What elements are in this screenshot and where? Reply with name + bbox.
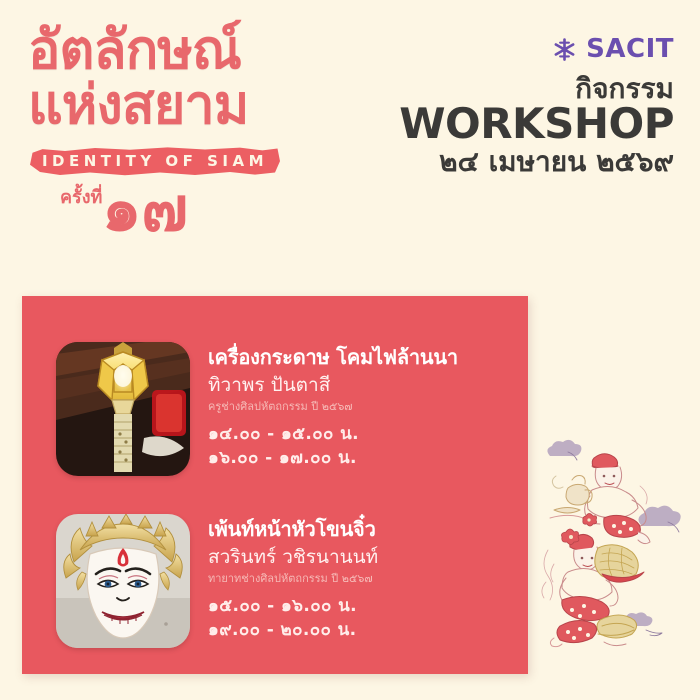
workshop-time-slot: ๑๖.๐๐ - ๑๗.๐๐ น. — [208, 446, 458, 470]
workshop-artist: สวรินทร์ วชิรนานนท์ — [208, 546, 378, 569]
workshop-times: ๑๔.๐๐ - ๑๕.๐๐ น. ๑๖.๐๐ - ๑๗.๐๐ น. — [208, 422, 458, 470]
workshop-title: เพ้นท์หน้าหัวโขนจิ๋ว — [208, 518, 378, 541]
sacit-asterisk-icon — [552, 37, 577, 62]
edition-label: ครั้งที่ — [60, 182, 102, 211]
workshop-title: เครื่องกระดาษ โคมไฟล้านนา — [208, 346, 458, 369]
workshop-time-slot: ๑๙.๐๐ - ๒๐.๐๐ น. — [208, 618, 378, 642]
sacit-logo-lockup: SACIT — [344, 34, 674, 64]
khon-mask-thumbnail — [56, 514, 190, 648]
thai-artisans-illustration — [532, 430, 692, 660]
festival-title-thai-line2: แห่งสยาม — [0, 77, 310, 132]
workshop-credential: ทายาทช่างศิลปหัตถกรรม ปี ๒๕๖๗ — [208, 572, 378, 585]
sacit-brand-name: SACIT — [586, 34, 674, 64]
workshop-info: เครื่องกระดาษ โคมไฟล้านนา ทิวาพร ปันตาสี… — [208, 342, 458, 476]
workshop-time-slot: ๑๕.๐๐ - ๑๖.๐๐ น. — [208, 594, 378, 618]
festival-title-thai-line1: อัตลักษณ์ — [0, 22, 310, 77]
workshop-item: เพ้นท์หน้าหัวโขนจิ๋ว สวรินทร์ วชิรนานนท์… — [56, 514, 378, 648]
workshop-info: เพ้นท์หน้าหัวโขนจิ๋ว สวรินทร์ วชิรนานนท์… — [208, 514, 378, 648]
edition-number: ๑๗ — [102, 178, 188, 240]
workshop-credential: ครูช่างศิลปหัตถกรรม ปี ๒๕๖๗ — [208, 400, 458, 413]
header-right-block: SACIT กิจกรรม WORKSHOP ๒๔ เมษายน ๒๕๖๙ — [344, 34, 674, 178]
workshop-times: ๑๕.๐๐ - ๑๖.๐๐ น. ๑๙.๐๐ - ๒๐.๐๐ น. — [208, 594, 378, 642]
edition-block: ครั้งที่ ๑๗ — [60, 182, 310, 244]
activity-date: ๒๔ เมษายน ๒๕๖๙ — [344, 147, 674, 178]
workshop-schedule-card: เครื่องกระดาษ โคมไฟล้านนา ทิวาพร ปันตาสี… — [22, 296, 528, 674]
workshop-artist: ทิวาพร ปันตาสี — [208, 374, 458, 397]
lantern-thumbnail — [56, 342, 190, 476]
workshop-item: เครื่องกระดาษ โคมไฟล้านนา ทิวาพร ปันตาสี… — [56, 342, 458, 476]
festival-title-block: อัตลักษณ์ แห่งสยาม IDENTITY OF SIAM ครั้… — [0, 22, 310, 244]
activity-title: WORKSHOP — [344, 102, 674, 146]
workshop-time-slot: ๑๔.๐๐ - ๑๕.๐๐ น. — [208, 422, 458, 446]
